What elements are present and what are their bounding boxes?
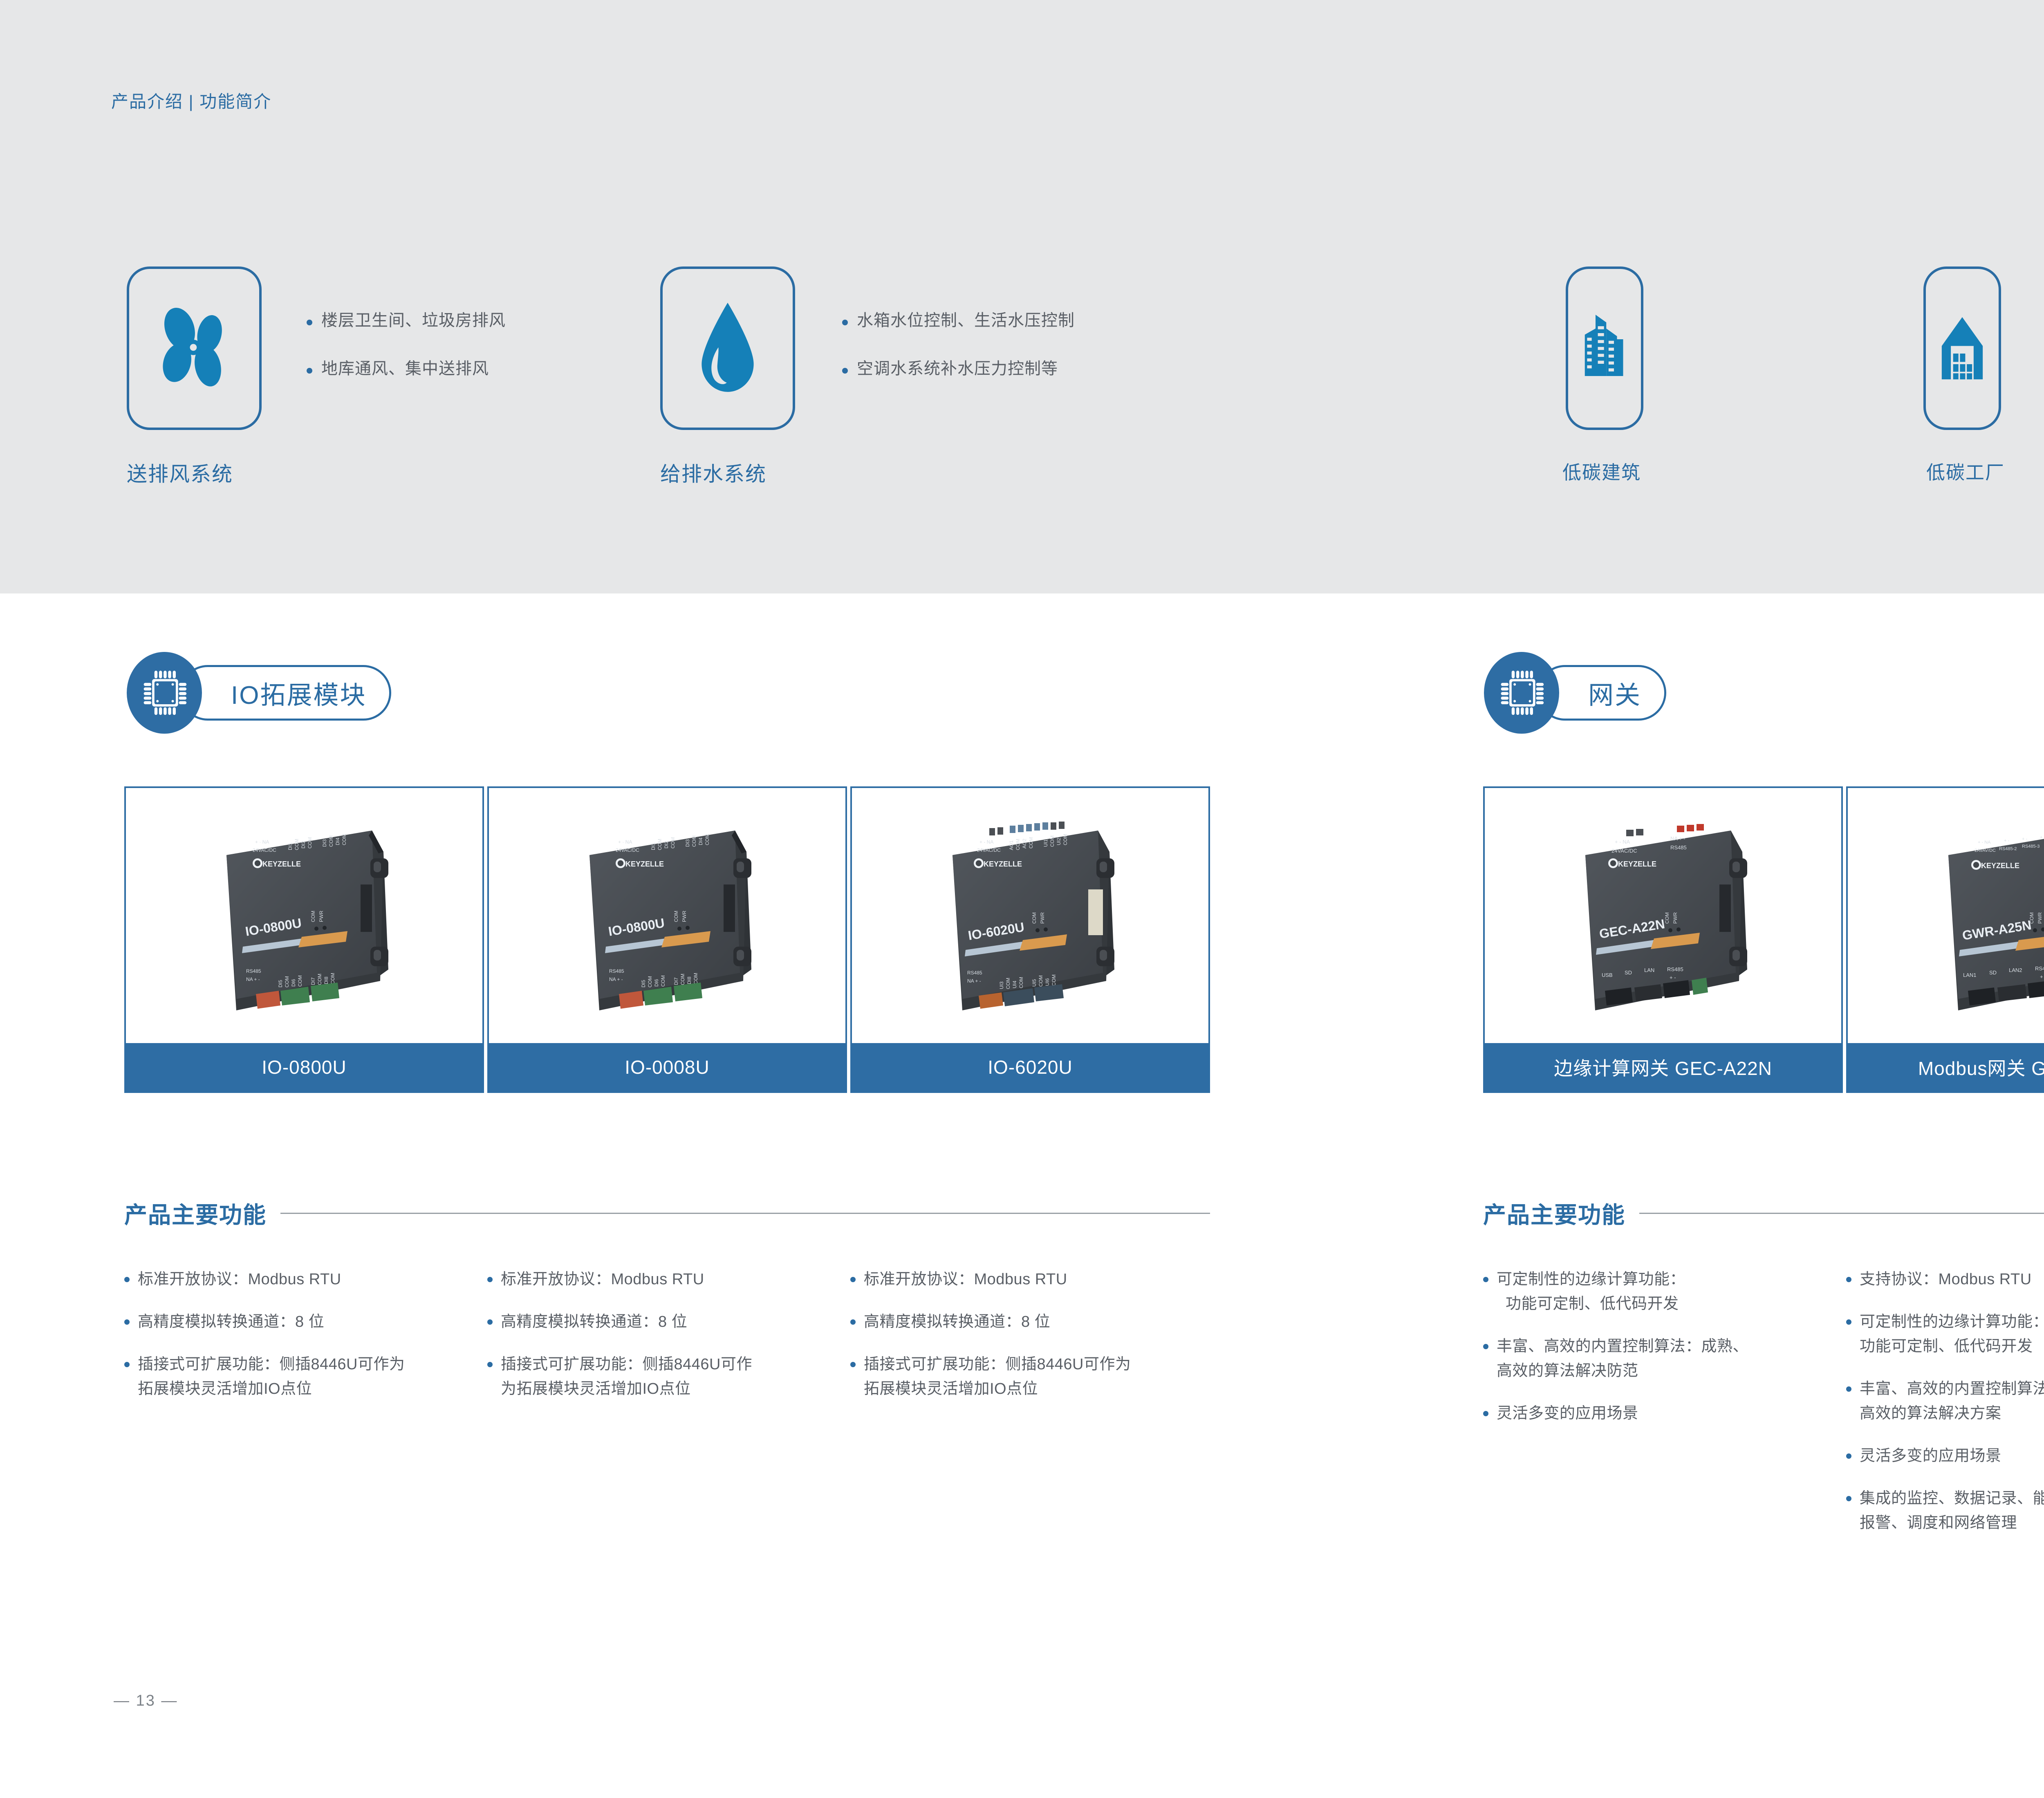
svg-text:DI2: DI2 [663, 841, 669, 849]
svg-text:24VAC/DC: 24VAC/DC [253, 847, 276, 853]
factory-caption: 低碳工厂 [1926, 458, 2005, 485]
svg-text:DI6: DI6 [291, 979, 296, 987]
svg-text:UI1: UI1 [1043, 839, 1049, 847]
bullet-text: 空调水系统补水压力控制等 [857, 359, 1058, 378]
product-caption: IO-0008U [489, 1043, 845, 1091]
chip-icon [141, 667, 187, 718]
svg-text:+ · NA: + · NA [255, 839, 269, 845]
svg-text:RS485-1: RS485-1 [2035, 965, 2044, 972]
feature-text: 支持协议：Modbus RTU [1860, 1267, 2032, 1292]
bullet-dot [850, 1319, 856, 1325]
feature-text: 丰富、高效的内置控制算法：成熟、 高效的算法解决方案 [1860, 1377, 2044, 1426]
product-card[interactable]: + - NA 24VAC/DC NA + - RS485 KEYZELLE GE… [1483, 786, 1843, 1093]
page-number-left: — 13 — [114, 1692, 178, 1710]
list-item: 可定制性的边缘计算功能： 功能可定制、低代码开发 [1483, 1267, 1835, 1316]
features-heading-label: 产品主要功能 [1483, 1197, 1625, 1230]
bullet-dot [850, 1277, 856, 1282]
svg-text:KEYZELLE: KEYZELLE [262, 860, 301, 868]
bullet-dot [1846, 1453, 1851, 1459]
office-building-icon-box [1566, 266, 1643, 430]
svg-text:COM: COM [341, 834, 347, 845]
svg-text:COM: COM [284, 976, 290, 987]
svg-text:UI3: UI3 [999, 981, 1004, 989]
section-title-pill: IO拓展模块 [180, 665, 391, 721]
svg-text:NA + -: NA + - [967, 978, 981, 984]
svg-text:+ -: + - [1670, 974, 1676, 981]
svg-text:COM: COM [1015, 839, 1021, 850]
svg-text:UI6: UI6 [1044, 978, 1050, 986]
svg-text:COM: COM [693, 973, 699, 984]
svg-text:COM: COM [673, 911, 679, 922]
feature-line: 丰富、高效的内置控制算法：成熟、 [1497, 1334, 1748, 1359]
feature-line: 插接式可扩展功能：侧插8446U可作为 [864, 1352, 1131, 1377]
feature-line: 高精度模拟转换通道：8 位 [501, 1310, 687, 1334]
svg-text:DI5: DI5 [278, 980, 283, 987]
svg-text:COM: COM [317, 974, 323, 985]
svg-text:2AVAV/DC: 2AVAV/DC [1975, 848, 1996, 853]
feature-line: 高效的算法解决方案 [1860, 1401, 2044, 1426]
feature-text: 可定制性的边缘计算功能： 功能可定制、低代码开发 [1860, 1310, 2044, 1359]
chip-icon-badge [1484, 652, 1559, 734]
water-bullet-list: 水箱水位控制、生活水压控制 空调水系统补水压力控制等 [842, 311, 1075, 378]
product-image: + - NA + - + - + - + - 2AVAV/DC RS485-2 … [1848, 788, 2044, 1043]
svg-text:DI7: DI7 [673, 977, 679, 985]
list-item: 支持协议：Modbus RTU [1846, 1267, 2044, 1292]
features-heading-right: 产品主要功能 [1483, 1197, 2044, 1230]
svg-text:UI5: UI5 [1031, 979, 1037, 987]
list-item: 标准开放协议：Modbus RTU [487, 1267, 839, 1292]
bullet-text: 楼层卫生间、垃圾房排风 [321, 311, 506, 330]
feature-line: 功能可定制、低代码开发 [1497, 1292, 1685, 1316]
feature-line: 支持协议：Modbus RTU [1860, 1267, 2032, 1292]
running-header-left: 产品介绍 | 功能简介 [111, 88, 271, 113]
product-image: + · NA 24VAC/DC DI1 COM DI2 COM DI3 COM … [126, 788, 482, 1043]
svg-text:COM: COM [1005, 978, 1011, 989]
svg-text:COM: COM [660, 975, 666, 987]
product-card[interactable]: + - NA + - + - + - + - 2AVAV/DC RS485-2 … [1846, 786, 2044, 1093]
svg-text:LAN1: LAN1 [1963, 972, 1977, 978]
feature-line: 可定制性的边缘计算功能： [1860, 1310, 2044, 1334]
list-item: 水箱水位控制、生活水压控制 [842, 311, 1075, 330]
svg-text:+ -: + - [2022, 837, 2027, 842]
product-image: + - NA 24VAC/DC NA + - RS485 KEYZELLE GE… [1485, 788, 1841, 1043]
product-caption: Modbus网关 GWR-A25N [1848, 1043, 2044, 1091]
svg-text:AO2: AO2 [1022, 839, 1027, 849]
feature-text: 高精度模拟转换通道：8 位 [138, 1310, 324, 1334]
heading-rule [1639, 1213, 2044, 1214]
svg-text:COM: COM [680, 974, 686, 985]
bullet-dot [850, 1362, 856, 1367]
feature-line: 为拓展模块灵活增加IO点位 [501, 1377, 752, 1401]
features-heading-label: 产品主要功能 [124, 1197, 267, 1230]
svg-text:DI7: DI7 [310, 977, 316, 985]
svg-text:NA + -: NA + - [246, 976, 260, 982]
svg-text:KEYZELLE: KEYZELLE [625, 860, 664, 868]
device-photo-io-0800u: + · NA 24VAC/DC DI1 COM DI2 COM DI3 COM … [177, 809, 431, 1022]
fan-group-caption: 送排风系统 [127, 458, 233, 487]
svg-text:+ · NA: + · NA [618, 839, 632, 845]
feature-line: 集成的监控、数据记录、能耗计量、 [1860, 1486, 2044, 1511]
feature-line: 高精度模拟转换通道：8 位 [138, 1310, 324, 1334]
product-caption: 边缘计算网关 GEC-A22N [1485, 1043, 1841, 1091]
product-image: + - NA 24VAC/DC AO1 COM AO2 COM UI1 COM … [852, 788, 1208, 1043]
svg-text:KEYZELLE: KEYZELLE [1981, 862, 2019, 870]
svg-text:COM: COM [1051, 974, 1057, 986]
feature-text: 插接式可扩展功能：侧插8446U可作 为拓展模块灵活增加IO点位 [501, 1352, 752, 1401]
svg-text:PWR: PWR [2037, 912, 2043, 924]
svg-text:COM: COM [1038, 975, 1044, 987]
bullet-dot [1846, 1319, 1851, 1325]
office-building-icon [1577, 305, 1632, 392]
product-card[interactable]: + · NA 24VAC/DC DI1 COM DI2 COM DI3 COM … [487, 786, 847, 1093]
bullet-text: 地库通风、集中送排风 [321, 359, 489, 378]
svg-text:+ - NA: + - NA [1978, 840, 1991, 845]
svg-text:24VAC/DC: 24VAC/DC [977, 847, 1001, 853]
svg-text:COM: COM [1062, 834, 1068, 845]
svg-text:24VAC/DC: 24VAC/DC [616, 847, 639, 853]
feature-text: 丰富、高效的内置控制算法：成熟、 高效的算法解决防范 [1497, 1334, 1748, 1383]
list-item: 灵活多变的应用场景 [1483, 1401, 1835, 1426]
feature-text: 标准开放协议：Modbus RTU [501, 1267, 704, 1292]
list-item: 集成的监控、数据记录、能耗计量、 报警、调度和网络管理 [1846, 1486, 2044, 1535]
svg-text:LAN2: LAN2 [2009, 967, 2022, 973]
bullet-dot [307, 368, 312, 374]
list-item: 标准开放协议：Modbus RTU [124, 1267, 476, 1292]
svg-text:PWR: PWR [318, 911, 324, 922]
svg-text:COM: COM [330, 973, 336, 984]
feature-column: 标准开放协议：Modbus RTU 高精度模拟转换通道：8 位 插接式可扩展功能… [850, 1267, 1210, 1419]
svg-text:NA + -: NA + - [609, 976, 623, 982]
factory-icon [1936, 305, 1989, 391]
feature-line: 功能可定制、低代码开发 [1860, 1334, 2044, 1359]
svg-text:PWR: PWR [1040, 912, 1045, 924]
list-item: 丰富、高效的内置控制算法：成熟、 高效的算法解决方案 [1846, 1377, 2044, 1426]
svg-text:COM: COM [670, 837, 676, 849]
feature-column: 标准开放协议：Modbus RTU 高精度模拟转换通道：8 位 插接式可扩展功能… [487, 1267, 839, 1419]
chip-icon-badge [127, 652, 202, 734]
svg-text:DI2: DI2 [300, 841, 306, 849]
svg-text:RS485-3: RS485-3 [2022, 844, 2040, 849]
list-item: 高精度模拟转换通道：8 位 [850, 1310, 1210, 1334]
bullet-dot [124, 1277, 130, 1282]
svg-text:COM: COM [1031, 912, 1037, 924]
svg-text:DI3: DI3 [685, 839, 690, 847]
svg-text:DI4: DI4 [698, 837, 704, 845]
section-title-label: 网关 [1588, 674, 1641, 711]
list-item: 高精度模拟转换通道：8 位 [487, 1310, 839, 1334]
feature-line: 丰富、高效的内置控制算法：成熟、 [1860, 1377, 2044, 1401]
svg-text:RS485: RS485 [967, 970, 982, 976]
svg-text:DI8: DI8 [686, 976, 692, 984]
office-building-caption: 低碳建筑 [1562, 458, 1641, 485]
product-caption: IO-0800U [126, 1043, 482, 1091]
list-item: 楼层卫生间、垃圾房排风 [307, 311, 506, 330]
svg-text:RS485: RS485 [609, 968, 624, 974]
feature-text: 高精度模拟转换通道：8 位 [864, 1310, 1050, 1334]
bullet-dot [1483, 1277, 1488, 1282]
svg-text:+ -: + - [2040, 974, 2044, 980]
svg-text:COM: COM [1664, 912, 1670, 924]
svg-text:SD: SD [1625, 970, 1632, 976]
bullet-dot [487, 1362, 493, 1367]
list-item: 丰富、高效的内置控制算法：成熟、 高效的算法解决防范 [1483, 1334, 1835, 1383]
svg-text:RS485: RS485 [1670, 844, 1687, 851]
feature-text: 可定制性的边缘计算功能： 功能可定制、低代码开发 [1497, 1267, 1685, 1316]
bullet-text: 水箱水位控制、生活水压控制 [857, 311, 1075, 330]
svg-text:KEYZELLE: KEYZELLE [1618, 860, 1656, 868]
bullet-dot [1483, 1344, 1488, 1349]
feature-line: 标准开放协议：Modbus RTU [864, 1267, 1067, 1292]
bullet-dot [842, 320, 848, 325]
svg-text:RS485: RS485 [1667, 966, 1683, 972]
feature-column: 支持协议：Modbus RTU 可定制性的边缘计算功能： 功能可定制、低代码开发… [1846, 1267, 2044, 1553]
svg-text:COM: COM [691, 835, 697, 847]
svg-text:+ -: + - [2040, 835, 2044, 840]
product-caption: IO-6020U [852, 1043, 1208, 1091]
svg-text:DI8: DI8 [323, 976, 329, 984]
bullet-dot [1846, 1496, 1851, 1501]
feature-text: 灵活多变的应用场景 [1860, 1444, 2001, 1468]
feature-line: 高精度模拟转换通道：8 位 [864, 1310, 1050, 1334]
feature-text: 灵活多变的应用场景 [1497, 1401, 1638, 1426]
svg-text:LAN: LAN [1644, 967, 1654, 973]
bullet-dot [124, 1362, 130, 1367]
product-card[interactable]: + - NA 24VAC/DC AO1 COM AO2 COM UI1 COM … [850, 786, 1210, 1093]
device-photo-gwr-a25n: + - NA + - + - + - + - 2AVAV/DC RS485-2 … [1899, 809, 2044, 1022]
feature-column: 标准开放协议：Modbus RTU 高精度模拟转换通道：8 位 插接式可扩展功能… [124, 1267, 476, 1419]
water-group-caption: 给排水系统 [660, 458, 766, 487]
list-item: 地库通风、集中送排风 [307, 359, 506, 378]
svg-text:RS485: RS485 [246, 968, 261, 974]
bullet-dot [124, 1319, 130, 1325]
feature-line: 插接式可扩展功能：侧插8446U可作为 [138, 1352, 405, 1377]
list-item: 可定制性的边缘计算功能： 功能可定制、低代码开发 [1846, 1310, 2044, 1359]
svg-text:COM: COM [307, 837, 313, 849]
svg-text:DI1: DI1 [287, 842, 293, 850]
svg-text:UI4: UI4 [1012, 981, 1018, 988]
svg-text:SD: SD [1989, 970, 1997, 976]
section-header-io-modules: IO拓展模块 [127, 652, 429, 734]
feature-column: 可定制性的边缘计算功能： 功能可定制、低代码开发 丰富、高效的内置控制算法：成熟… [1483, 1267, 1835, 1444]
svg-text:PWR: PWR [681, 911, 687, 922]
svg-text:+ -: + - [2004, 838, 2009, 843]
feature-text: 高精度模拟转换通道：8 位 [501, 1310, 687, 1334]
bullet-dot [842, 368, 848, 374]
feature-text: 插接式可扩展功能：侧插8446U可作为 拓展模块灵活增加IO点位 [864, 1352, 1131, 1401]
chip-icon [1499, 667, 1544, 718]
feature-text: 插接式可扩展功能：侧插8446U可作为 拓展模块灵活增加IO点位 [138, 1352, 405, 1401]
list-item: 标准开放协议：Modbus RTU [850, 1267, 1210, 1292]
svg-text:DI5: DI5 [641, 980, 646, 987]
svg-text:+ - NA: + - NA [1615, 839, 1630, 845]
feature-line: 标准开放协议：Modbus RTU [138, 1267, 341, 1292]
product-image: + · NA 24VAC/DC DI1 COM DI2 COM DI3 COM … [489, 788, 845, 1043]
svg-text:DI4: DI4 [335, 837, 341, 845]
device-photo-io-6020u: + - NA 24VAC/DC AO1 COM AO2 COM UI1 COM … [903, 809, 1157, 1022]
fan-icon-box [127, 266, 262, 430]
svg-text:NA + -: NA + - [1670, 835, 1685, 842]
fan-icon [151, 301, 237, 395]
list-item: 插接式可扩展功能：侧插8446U可作为 拓展模块灵活增加IO点位 [850, 1352, 1210, 1401]
feature-line: 拓展模块灵活增加IO点位 [864, 1377, 1131, 1401]
list-item: 灵活多变的应用场景 [1846, 1444, 2044, 1468]
svg-text:USB: USB [1602, 972, 1613, 978]
svg-text:COM: COM [294, 839, 300, 850]
bullet-dot [1846, 1386, 1851, 1392]
bullet-dot [487, 1319, 493, 1325]
section-title-label: IO拓展模块 [231, 674, 366, 711]
water-drop-icon [689, 297, 766, 399]
svg-text:PWR: PWR [1672, 912, 1678, 924]
svg-text:COM: COM [1049, 835, 1055, 847]
svg-text:KEYZELLE: KEYZELLE [984, 860, 1022, 868]
svg-text:+ - NA: + - NA [979, 839, 993, 845]
svg-text:COM: COM [310, 911, 316, 922]
product-card[interactable]: + · NA 24VAC/DC DI1 COM DI2 COM DI3 COM … [124, 786, 484, 1093]
feature-line: 高效的算法解决防范 [1497, 1359, 1748, 1383]
svg-text:DI1: DI1 [650, 842, 656, 850]
bullet-dot [307, 320, 312, 325]
feature-line: 报警、调度和网络管理 [1860, 1511, 2044, 1535]
feature-line: 灵活多变的应用场景 [1497, 1401, 1638, 1426]
feature-line: 拓展模块灵活增加IO点位 [138, 1377, 405, 1401]
svg-text:COM: COM [1018, 977, 1024, 988]
svg-text:RS485-2: RS485-2 [1999, 846, 2017, 851]
top-gray-band [0, 0, 2044, 593]
bullet-dot [1483, 1411, 1488, 1416]
feature-text: 集成的监控、数据记录、能耗计量、 报警、调度和网络管理 [1860, 1486, 2044, 1535]
device-photo-io-0008u: + · NA 24VAC/DC DI1 COM DI2 COM DI3 COM … [540, 809, 794, 1022]
water-icon-box [660, 266, 795, 430]
svg-text:COM: COM [647, 976, 653, 987]
feature-line: 插接式可扩展功能：侧插8446U可作 [501, 1352, 752, 1377]
svg-text:COM: COM [1028, 837, 1034, 849]
svg-text:COM: COM [657, 839, 663, 850]
bullet-dot [487, 1277, 493, 1282]
device-photo-gec-a22n: + - NA 24VAC/DC NA + - RS485 KEYZELLE GE… [1536, 809, 1790, 1022]
svg-text:AO1: AO1 [1009, 840, 1014, 850]
list-item: 空调水系统补水压力控制等 [842, 359, 1075, 378]
list-item: 高精度模拟转换通道：8 位 [124, 1310, 476, 1334]
features-heading-left: 产品主要功能 [124, 1197, 1210, 1230]
feature-line: 标准开放协议：Modbus RTU [501, 1267, 704, 1292]
list-item: 插接式可扩展功能：侧插8446U可作 为拓展模块灵活增加IO点位 [487, 1352, 839, 1401]
svg-text:COM: COM [2029, 912, 2035, 924]
svg-text:24VAC/DC: 24VAC/DC [1611, 848, 1637, 854]
svg-text:UI2: UI2 [1056, 837, 1062, 845]
heading-rule [280, 1213, 1210, 1214]
feature-line: 灵活多变的应用场景 [1860, 1444, 2001, 1468]
fan-bullet-list: 楼层卫生间、垃圾房排风 地库通风、集中送排风 [307, 311, 506, 378]
svg-text:DI6: DI6 [654, 979, 659, 987]
feature-text: 标准开放协议：Modbus RTU [864, 1267, 1067, 1292]
feature-line: 可定制性的边缘计算功能： [1497, 1267, 1685, 1292]
bullet-dot [1846, 1277, 1851, 1282]
section-header-gateway: 网关 [1484, 652, 1713, 734]
list-item: 插接式可扩展功能：侧插8446U可作为 拓展模块灵活增加IO点位 [124, 1352, 476, 1401]
factory-icon-box [1923, 266, 2001, 430]
svg-text:COM: COM [704, 834, 710, 845]
svg-text:COM: COM [328, 835, 334, 847]
feature-text: 标准开放协议：Modbus RTU [138, 1267, 341, 1292]
svg-text:DI3: DI3 [322, 839, 327, 847]
svg-text:COM: COM [297, 975, 303, 987]
